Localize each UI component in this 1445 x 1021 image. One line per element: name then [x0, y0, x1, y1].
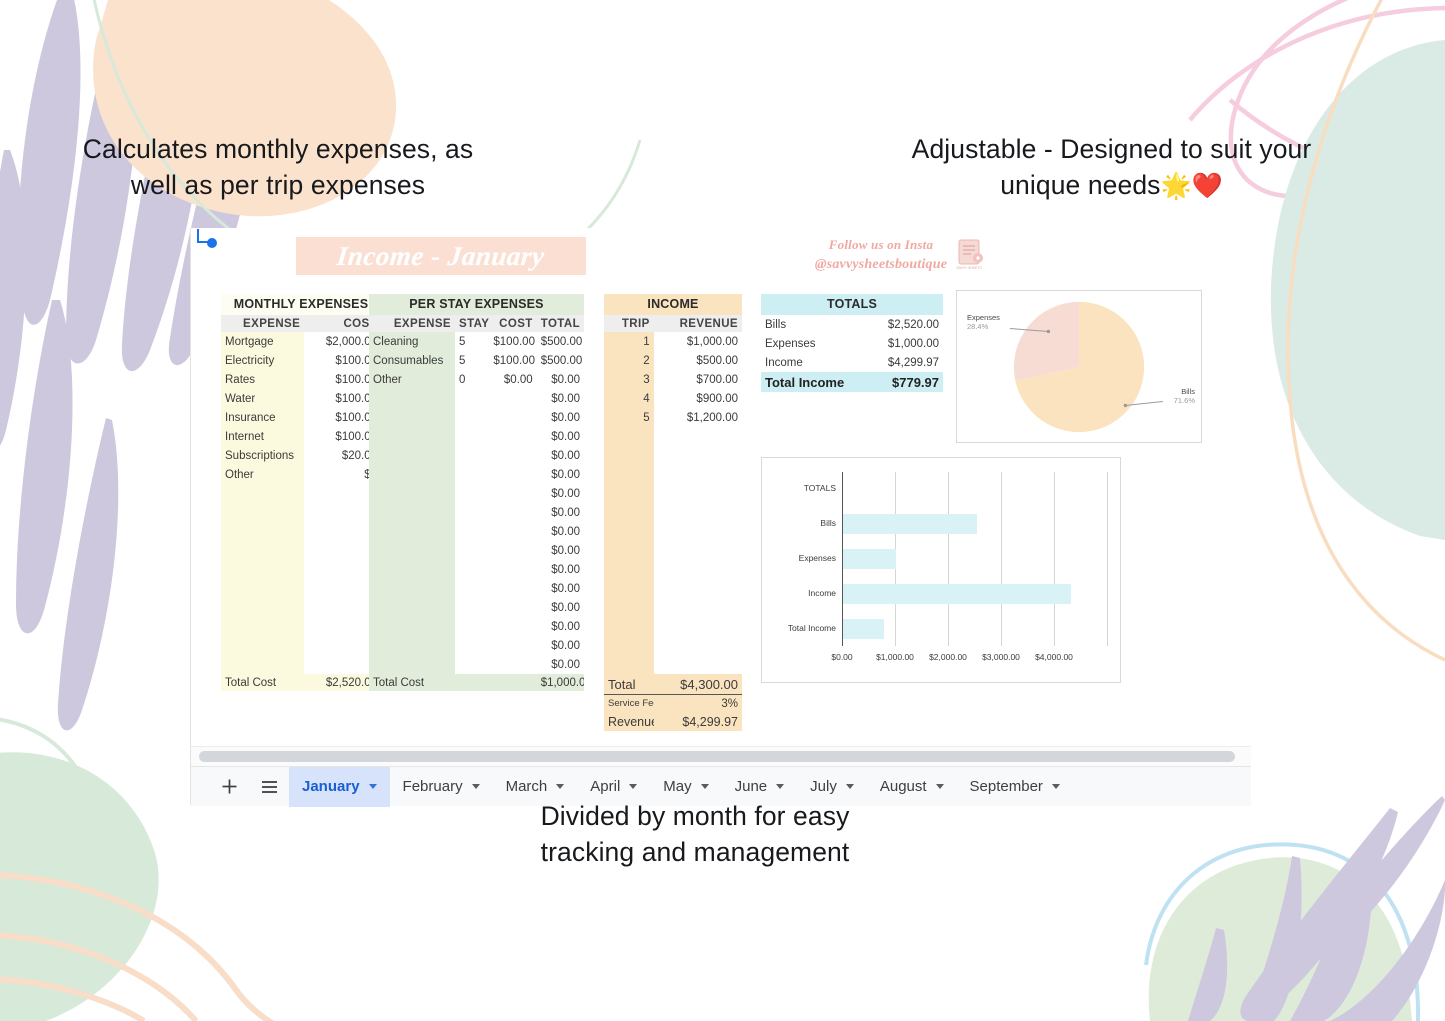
cell-trip-revenue[interactable]: [654, 446, 742, 465]
sheet-tab-january[interactable]: January: [289, 767, 390, 807]
chart-gridline: [1107, 472, 1108, 646]
table-row[interactable]: $0.00: [369, 522, 584, 541]
cell-stay-total[interactable]: $0.00: [537, 617, 584, 636]
monthly-total-label[interactable]: Total Cost: [221, 674, 304, 691]
income-total-label[interactable]: Total: [604, 674, 654, 695]
table-row[interactable]: Income$4,299.97: [761, 353, 943, 372]
table-row[interactable]: 5$1,200.00: [604, 408, 742, 427]
cell-stay-cost[interactable]: [489, 484, 536, 503]
cell-stay-total[interactable]: $0.00: [537, 370, 584, 389]
cell-trip-revenue[interactable]: $1,000.00: [654, 332, 742, 351]
sheet-title-banner: Income - January: [296, 237, 586, 275]
table-row[interactable]: Subscriptions$20.00: [221, 446, 381, 465]
cell-stay-total[interactable]: $0.00: [537, 446, 584, 465]
cell-expense-name[interactable]: [221, 636, 304, 655]
cell-total-label[interactable]: Income: [761, 353, 861, 372]
table-row[interactable]: 4$900.00: [604, 389, 742, 408]
peach-arcs-bottomleft: [0, 875, 400, 1021]
cell-expense-name[interactable]: Rates: [221, 370, 304, 389]
table-row[interactable]: [221, 503, 381, 522]
table-income[interactable]: INCOME TRIPREVENUE1$1,000.002$500.003$70…: [604, 294, 742, 731]
cell-stay-count[interactable]: [455, 446, 489, 465]
cell-total-value[interactable]: $2,520.00: [861, 315, 943, 334]
sheet-tab-label: January: [302, 778, 360, 795]
table-row[interactable]: $0.00: [369, 408, 584, 427]
cell-stay-cost[interactable]: $100.00: [489, 332, 536, 351]
pie-label-bills: Bills 71.6%: [1174, 387, 1195, 406]
totals-table[interactable]: Bills$2,520.00Expenses$1,000.00Income$4,…: [761, 315, 943, 392]
table-row[interactable]: $0.00: [369, 579, 584, 598]
bar-category-label: Income: [766, 588, 836, 598]
cell-stay-cost[interactable]: [489, 427, 536, 446]
cell-stay-cost[interactable]: [489, 655, 536, 674]
cell-expense-name[interactable]: [221, 522, 304, 541]
cell-stay-total[interactable]: $0.00: [537, 579, 584, 598]
cell-stay-count[interactable]: [455, 503, 489, 522]
table-row[interactable]: [221, 560, 381, 579]
table-row[interactable]: [604, 484, 742, 503]
table-row[interactable]: [604, 598, 742, 617]
chart-gridline: [948, 472, 949, 646]
column-header-expense[interactable]: EXPENSE: [221, 315, 304, 332]
sheet-title-text: Income - January: [336, 241, 547, 272]
cell-expense-name[interactable]: [221, 503, 304, 522]
cell-trip-revenue[interactable]: [654, 522, 742, 541]
cell-trip-revenue[interactable]: [654, 636, 742, 655]
table-row[interactable]: $0.00: [369, 598, 584, 617]
cell-stay-total[interactable]: $0.00: [537, 560, 584, 579]
table-row[interactable]: [604, 617, 742, 636]
revenue-label[interactable]: Revenue: [604, 712, 654, 731]
sheet-tab-label: April: [590, 778, 620, 795]
sheet-tab-september[interactable]: September: [957, 767, 1073, 807]
table-row[interactable]: [604, 655, 742, 674]
column-header-trip[interactable]: TRIP: [604, 315, 654, 332]
cell-stay-cost[interactable]: [489, 389, 536, 408]
cell-stay-expense[interactable]: Consumables: [369, 351, 455, 370]
cell-stay-cost[interactable]: [489, 541, 536, 560]
sheet-tab-label: September: [970, 778, 1043, 795]
chevron-down-icon[interactable]: [629, 784, 637, 789]
cell-total-label[interactable]: Expenses: [761, 334, 861, 353]
cell-trip-revenue[interactable]: [654, 465, 742, 484]
income-table[interactable]: TRIPREVENUE1$1,000.002$500.003$700.004$9…: [604, 315, 742, 731]
cell-trip-revenue[interactable]: $1,200.00: [654, 408, 742, 427]
cell-stay-expense[interactable]: [369, 560, 455, 579]
poster-canvas: Calculates monthly expenses, as well as …: [0, 0, 1445, 1021]
income-total-value[interactable]: $4,300.00: [654, 674, 742, 695]
cell-stay-expense[interactable]: [369, 465, 455, 484]
cell-stay-expense[interactable]: [369, 446, 455, 465]
chevron-down-icon[interactable]: [701, 784, 709, 789]
table-row[interactable]: [604, 560, 742, 579]
plus-icon: [221, 778, 238, 795]
bar-axis-tick: $4,000.00: [1016, 652, 1092, 662]
pie-chart[interactable]: Expenses 28.4% Bills 71.6%: [956, 290, 1202, 443]
mint-blob-topright: [1271, 40, 1445, 540]
cell-stay-expense[interactable]: [369, 484, 455, 503]
table-row[interactable]: [604, 541, 742, 560]
column-header-total[interactable]: TOTAL: [537, 315, 584, 332]
table-row[interactable]: [221, 484, 381, 503]
orange-curve-topright: [1288, 0, 1445, 660]
table-row[interactable]: Mortgage$2,000.00: [221, 332, 381, 351]
table-row[interactable]: 2$500.00: [604, 351, 742, 370]
bar-category-label: TOTALS: [766, 483, 836, 493]
cell-stay-expense[interactable]: [369, 636, 455, 655]
cell-stay-count[interactable]: [455, 465, 489, 484]
caption-bottom: Divided by month for easy tracking and m…: [494, 798, 896, 871]
chevron-down-icon[interactable]: [556, 784, 564, 789]
cell-expense-name[interactable]: Mortgage: [221, 332, 304, 351]
cell-trip-number[interactable]: 1: [604, 332, 654, 351]
sheet-tab-label: July: [810, 778, 837, 795]
cell-stay-total[interactable]: $0.00: [537, 598, 584, 617]
chevron-down-icon[interactable]: [369, 784, 377, 789]
cell-trip-revenue[interactable]: [654, 503, 742, 522]
table-row[interactable]: Insurance$100.00: [221, 408, 381, 427]
table-row[interactable]: [221, 636, 381, 655]
cell-stay-cost[interactable]: [489, 560, 536, 579]
cell-trip-number[interactable]: [604, 655, 654, 674]
insta-line-2: @savvysheetsboutique: [791, 255, 971, 275]
income-title: INCOME: [604, 294, 742, 315]
cell-expense-name[interactable]: Other: [221, 465, 304, 484]
table-row[interactable]: $0.00: [369, 560, 584, 579]
cell-stay-expense[interactable]: Cleaning: [369, 332, 455, 351]
cell-stay-expense[interactable]: [369, 617, 455, 636]
cell-expense-name[interactable]: [221, 617, 304, 636]
perstay-total-value[interactable]: $1,000.00: [537, 674, 584, 691]
cell-expense-name[interactable]: Electricity: [221, 351, 304, 370]
income-total-row: Total$4,300.00: [604, 674, 742, 695]
mint-blob-bottomleft: [0, 752, 159, 1021]
cell-expense-name[interactable]: Insurance: [221, 408, 304, 427]
cell-total-value[interactable]: $4,299.97: [861, 353, 943, 372]
cell-trip-revenue[interactable]: [654, 579, 742, 598]
cell-trip-revenue[interactable]: [654, 427, 742, 446]
total-row: Total Cost$2,520.00: [221, 674, 381, 691]
cell-stay-cost[interactable]: [489, 408, 536, 427]
totals-title: TOTALS: [761, 294, 943, 315]
table-row[interactable]: Rates$100.00: [221, 370, 381, 389]
cell-stay-cost[interactable]: [489, 636, 536, 655]
cell-stay-cost[interactable]: [489, 598, 536, 617]
cell-expense-name[interactable]: Subscriptions: [221, 446, 304, 465]
cell-total-label[interactable]: Bills: [761, 315, 861, 334]
cell-stay-expense[interactable]: [369, 579, 455, 598]
table-row[interactable]: $0.00: [369, 503, 584, 522]
table-row[interactable]: [604, 503, 742, 522]
sheet-tab-february[interactable]: February: [390, 767, 493, 807]
table-row[interactable]: [221, 655, 381, 674]
cell-trip-number[interactable]: [604, 579, 654, 598]
hamburger-menu-icon: [261, 780, 278, 794]
sheet-tab-label: June: [735, 778, 768, 795]
table-row[interactable]: Internet$100.00: [221, 427, 381, 446]
cell-stay-count[interactable]: [455, 655, 489, 674]
cell-expense-name[interactable]: [221, 541, 304, 560]
cell-trip-revenue[interactable]: [654, 541, 742, 560]
cell-trip-number[interactable]: [604, 598, 654, 617]
service-fee-row: Service Fee3%: [604, 695, 742, 713]
table-row[interactable]: 1$1,000.00: [604, 332, 742, 351]
cell-stay-cost[interactable]: [489, 617, 536, 636]
cell-stay-cost[interactable]: [489, 579, 536, 598]
cell-stay-cost[interactable]: [489, 503, 536, 522]
cell-trip-number[interactable]: [604, 427, 654, 446]
cell-trip-number[interactable]: [604, 503, 654, 522]
table-row[interactable]: $0.00: [369, 655, 584, 674]
chevron-down-icon[interactable]: [1052, 784, 1060, 789]
table-row[interactable]: [604, 636, 742, 655]
cell-stay-total[interactable]: $0.00: [537, 541, 584, 560]
cell-trip-number[interactable]: 4: [604, 389, 654, 408]
cell-stay-count[interactable]: [455, 427, 489, 446]
table-row[interactable]: Other0$0.00$0.00: [369, 370, 584, 389]
table-monthly-expenses[interactable]: MONTHLY EXPENSES EXPENSECOSTMortgage$2,0…: [221, 294, 381, 691]
insta-line-1: Follow us on Insta: [791, 236, 971, 255]
cell-expense-name[interactable]: [221, 598, 304, 617]
cell-trip-revenue[interactable]: [654, 617, 742, 636]
cell-stay-total[interactable]: $0.00: [537, 408, 584, 427]
table-row[interactable]: $0.00: [369, 389, 584, 408]
cell-stay-count[interactable]: [455, 560, 489, 579]
cell-stay-total[interactable]: $0.00: [537, 636, 584, 655]
bar-category-label: Expenses: [766, 553, 836, 563]
table-row[interactable]: [604, 446, 742, 465]
table-row[interactable]: [604, 579, 742, 598]
cell-stay-cost[interactable]: [489, 446, 536, 465]
table-row[interactable]: Cleaning5$100.00$500.00: [369, 332, 584, 351]
cell-trip-revenue[interactable]: [654, 560, 742, 579]
cell-stay-count[interactable]: 5: [455, 332, 489, 351]
cell-stay-expense[interactable]: [369, 655, 455, 674]
table-row[interactable]: [604, 427, 742, 446]
add-sheet-button[interactable]: [209, 767, 249, 807]
cell-stay-count[interactable]: 5: [455, 351, 489, 370]
column-header-stays[interactable]: STAYS: [455, 315, 489, 332]
spreadsheet-window: Income - January Follow us on Insta @sav…: [190, 228, 1250, 805]
monthly-expenses-table[interactable]: EXPENSECOSTMortgage$2,000.00Electricity$…: [221, 315, 381, 691]
bar-segment[interactable]: [843, 549, 896, 569]
cell-stay-expense[interactable]: [369, 522, 455, 541]
cell-expense-name[interactable]: [221, 484, 304, 503]
blue-arc-bottomright: [1146, 844, 1418, 1021]
horizontal-scrollbar-thumb[interactable]: [199, 751, 1235, 762]
bar-chart[interactable]: TOTALSBillsExpensesIncomeTotal Income$0.…: [761, 457, 1121, 683]
cell-trip-revenue[interactable]: $700.00: [654, 370, 742, 389]
cell-stay-total[interactable]: $0.00: [537, 503, 584, 522]
cell-stay-count[interactable]: 0: [455, 370, 489, 389]
caption-right: Adjustable - Designed to suit your uniqu…: [905, 131, 1318, 204]
sheet-tab-label: March: [506, 778, 548, 795]
cell-trip-number[interactable]: [604, 560, 654, 579]
horizontal-scrollbar[interactable]: [191, 746, 1251, 766]
cell-stay-count[interactable]: [455, 389, 489, 408]
total-row: Total Cost$1,000.00: [369, 674, 584, 691]
cell-stay-expense[interactable]: [369, 389, 455, 408]
cell-stay-count[interactable]: [455, 408, 489, 427]
chevron-down-icon[interactable]: [936, 784, 944, 789]
table-row[interactable]: $0.00: [369, 636, 584, 655]
cell-trip-number[interactable]: 2: [604, 351, 654, 370]
cell-trip-number[interactable]: 5: [604, 408, 654, 427]
bar-segment[interactable]: [843, 514, 977, 534]
cell-trip-number[interactable]: [604, 522, 654, 541]
cell-stay-expense[interactable]: [369, 541, 455, 560]
cell-stay-expense[interactable]: [369, 408, 455, 427]
table-row[interactable]: 3$700.00: [604, 370, 742, 389]
chart-gridline: [1054, 472, 1055, 646]
cell-trip-revenue[interactable]: [654, 484, 742, 503]
cell-trip-revenue[interactable]: [654, 655, 742, 674]
cell-stay-total[interactable]: $0.00: [537, 465, 584, 484]
table-row[interactable]: $0.00: [369, 617, 584, 636]
cell-stay-count[interactable]: [455, 636, 489, 655]
cell-stay-expense[interactable]: Other: [369, 370, 455, 389]
table-row[interactable]: Other$0: [221, 465, 381, 484]
bar-segment[interactable]: [843, 619, 884, 639]
service-fee-label[interactable]: Service Fee: [604, 695, 654, 713]
revenue-row: Revenue$4,299.97: [604, 712, 742, 731]
cell-stay-total[interactable]: $0.00: [537, 427, 584, 446]
chevron-down-icon[interactable]: [776, 784, 784, 789]
sheet-tab-label: August: [880, 778, 927, 795]
svg-text:SAVVY SHEETS: SAVVY SHEETS: [956, 266, 982, 270]
cell-trip-revenue[interactable]: $500.00: [654, 351, 742, 370]
sheet-tab-label: May: [663, 778, 691, 795]
bar-segment[interactable]: [843, 584, 1071, 604]
perstay-total-label[interactable]: Total Cost: [369, 674, 537, 691]
cell-trip-revenue[interactable]: [654, 598, 742, 617]
total-income-label[interactable]: Total Income: [761, 372, 861, 392]
cell-expense-name[interactable]: [221, 655, 304, 674]
revenue-value[interactable]: $4,299.97: [654, 712, 742, 731]
cell-stay-count[interactable]: [455, 598, 489, 617]
cell-stay-cost[interactable]: $0.00: [489, 370, 536, 389]
cell-stay-expense[interactable]: [369, 427, 455, 446]
table-row[interactable]: $0.00: [369, 484, 584, 503]
table-row[interactable]: [604, 465, 742, 484]
cell-stay-total[interactable]: $0.00: [537, 389, 584, 408]
cell-stay-total[interactable]: $0.00: [537, 655, 584, 674]
cell-expense-name[interactable]: Water: [221, 389, 304, 408]
table-totals[interactable]: TOTALS Bills$2,520.00Expenses$1,000.00In…: [761, 294, 943, 392]
cell-expense-name[interactable]: Internet: [221, 427, 304, 446]
table-row[interactable]: [221, 598, 381, 617]
table-row[interactable]: [221, 617, 381, 636]
all-sheets-button[interactable]: [249, 767, 289, 807]
table-row[interactable]: $0.00: [369, 446, 584, 465]
table-row[interactable]: $0.00: [369, 427, 584, 446]
cell-stay-count[interactable]: [455, 484, 489, 503]
cell-total-value[interactable]: $1,000.00: [861, 334, 943, 353]
cell-stay-expense[interactable]: [369, 598, 455, 617]
per-stay-expenses-table[interactable]: EXPENSESTAYSCOSTTOTALCleaning5$100.00$50…: [369, 315, 584, 691]
table-row[interactable]: [604, 522, 742, 541]
table-row[interactable]: Consumables5$100.00$500.00: [369, 351, 584, 370]
cell-stay-cost[interactable]: [489, 465, 536, 484]
column-header-cost[interactable]: COST: [489, 315, 536, 332]
cell-stay-total[interactable]: $0.00: [537, 522, 584, 541]
caption-right-text: Adjustable - Designed to suit your uniqu…: [912, 134, 1312, 200]
total-income-row: Total Income$779.97: [761, 372, 943, 392]
table-row[interactable]: Electricity$100.00: [221, 351, 381, 370]
cell-trip-number[interactable]: [604, 617, 654, 636]
column-header-revenue[interactable]: REVENUE: [654, 315, 742, 332]
instagram-promo: Follow us on Insta @savvysheetsboutique …: [791, 236, 971, 275]
spreadsheet-grid[interactable]: Income - January Follow us on Insta @sav…: [191, 228, 1251, 743]
table-per-stay-expenses[interactable]: PER STAY EXPENSES EXPENSESTAYSCOSTTOTALC…: [369, 294, 584, 691]
cell-stay-expense[interactable]: [369, 503, 455, 522]
table-row[interactable]: $0.00: [369, 541, 584, 560]
cell-trip-number[interactable]: [604, 484, 654, 503]
cell-stay-count[interactable]: [455, 522, 489, 541]
cell-stay-cost[interactable]: [489, 522, 536, 541]
per-stay-expenses-title: PER STAY EXPENSES: [369, 294, 584, 315]
pie-label-expenses: Expenses 28.4%: [967, 313, 1000, 332]
cell-stay-count[interactable]: [455, 579, 489, 598]
bar-category-label: Total Income: [766, 623, 836, 633]
cell-stay-count[interactable]: [455, 541, 489, 560]
pie-slice-expenses: [1014, 302, 1079, 381]
bar-category-label: Bills: [766, 518, 836, 528]
table-header-row: EXPENSECOST: [221, 315, 381, 332]
cell-trip-number[interactable]: [604, 636, 654, 655]
total-income-value[interactable]: $779.97: [861, 372, 943, 392]
chart-gridline: [1001, 472, 1002, 646]
table-row[interactable]: [221, 579, 381, 598]
table-row[interactable]: [221, 522, 381, 541]
cell-trip-number[interactable]: [604, 541, 654, 560]
cell-trip-number[interactable]: [604, 446, 654, 465]
chevron-down-icon[interactable]: [472, 784, 480, 789]
table-header-row: TRIPREVENUE: [604, 315, 742, 332]
caption-left: Calculates monthly expenses, as well as …: [62, 131, 494, 204]
selected-cell-marker: [196, 228, 218, 250]
cell-stay-cost[interactable]: $100.00: [489, 351, 536, 370]
cell-trip-number[interactable]: [604, 465, 654, 484]
cell-trip-revenue[interactable]: $900.00: [654, 389, 742, 408]
table-row[interactable]: Bills$2,520.00: [761, 315, 943, 334]
cell-stay-total[interactable]: $0.00: [537, 484, 584, 503]
caption-right-emoji: 🌟❤️: [1161, 172, 1223, 200]
table-row[interactable]: Water$100.00: [221, 389, 381, 408]
savvy-sheets-logo-icon: SAVVY SHEETS: [955, 238, 989, 272]
cell-trip-number[interactable]: 3: [604, 370, 654, 389]
cell-expense-name[interactable]: [221, 560, 304, 579]
cell-stay-count[interactable]: [455, 617, 489, 636]
cell-stay-total[interactable]: $500.00: [537, 332, 584, 351]
table-row[interactable]: $0.00: [369, 465, 584, 484]
cell-stay-total[interactable]: $500.00: [537, 351, 584, 370]
cell-expense-name[interactable]: [221, 579, 304, 598]
table-header-row: EXPENSESTAYSCOSTTOTAL: [369, 315, 584, 332]
column-header-expense[interactable]: EXPENSE: [369, 315, 455, 332]
sheet-tab-label: February: [403, 778, 463, 795]
service-fee-value[interactable]: 3%: [654, 695, 742, 713]
table-row[interactable]: [221, 541, 381, 560]
lavender-leaves-bottomright: [1188, 796, 1445, 1021]
mint-blob-bottomright: [1149, 857, 1412, 1021]
table-row[interactable]: Expenses$1,000.00: [761, 334, 943, 353]
monthly-expenses-title: MONTHLY EXPENSES: [221, 294, 381, 315]
chevron-down-icon[interactable]: [846, 784, 854, 789]
